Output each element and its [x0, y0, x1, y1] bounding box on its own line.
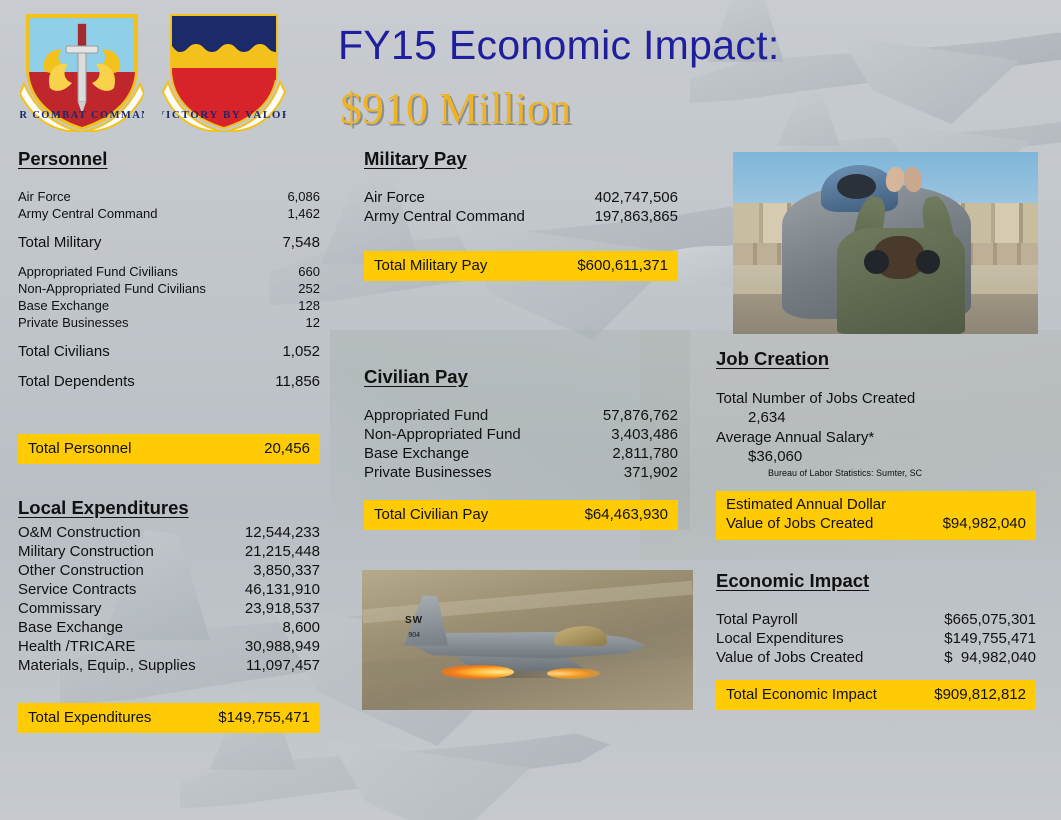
- personnel-row-non-appropriated-fund-civilians: Non-Appropriated Fund Civilians 252: [18, 282, 320, 295]
- economic-impact-total-bar: Total Economic Impact $909,812,812: [716, 680, 1036, 710]
- personnel-total-civilians: Total Civilians 1,052: [18, 344, 320, 359]
- job-value-bar-amount: $94,982,040: [943, 515, 1026, 534]
- local-expenditures-heading: Local Expenditures: [18, 497, 320, 519]
- personnel-row-appropriated-fund-civilians: Appropriated Fund Civilians 660: [18, 265, 320, 278]
- local-expenditures-section: Local Expenditures O&M Construction 12,5…: [18, 497, 320, 673]
- personnel-total-bar: Total Personnel 20,456: [18, 434, 320, 464]
- crew-chief-marshalling-f16-photo: [733, 152, 1038, 334]
- vbv-emblem-motto: VICTORY BY VALOR: [162, 109, 286, 121]
- expenditure-row-health-tricare: Health /TRICARE 30,988,949: [18, 639, 320, 654]
- expenditure-row-military-construction: Military Construction 21,215,448: [18, 544, 320, 559]
- page-title: FY15 Economic Impact:: [338, 22, 780, 69]
- f16-tail-number: 904: [408, 632, 420, 639]
- military-pay-total-bar: Total Military Pay $600,611,371: [364, 251, 678, 281]
- personnel-total-dependents: Total Dependents 11,856: [18, 374, 320, 389]
- f16-firing-missile-photo: SW 904: [362, 570, 693, 710]
- expenditure-row-om-construction: O&M Construction 12,544,233: [18, 525, 320, 540]
- economic-impact-row-value-of-jobs-created: Value of Jobs Created $ 94,982,040: [716, 650, 1036, 665]
- civilian-pay-row-base-exchange: Base Exchange 2,811,780: [364, 446, 678, 461]
- job-creation-heading: Job Creation: [716, 348, 1036, 370]
- expenditure-row-materials-equip-supplies: Materials, Equip., Supplies 11,097,457: [18, 658, 320, 673]
- personnel-heading: Personnel: [18, 148, 320, 170]
- personnel-row-air-force: Air Force 6,086: [18, 190, 320, 203]
- economic-impact-section: Economic Impact Total Payroll $665,075,3…: [716, 570, 1036, 665]
- expenditure-row-base-exchange: Base Exchange 8,600: [18, 620, 320, 635]
- personnel-row-army-central-command: Army Central Command 1,462: [18, 207, 320, 220]
- jobs-created-value: 2,634: [716, 409, 1036, 426]
- jobs-created-label: Total Number of Jobs Created: [716, 390, 1036, 407]
- acc-emblem-motto: AIR COMBAT COMMAND: [20, 110, 144, 121]
- expenditure-row-other-construction: Other Construction 3,850,337: [18, 563, 320, 578]
- job-value-bar-line1: Estimated Annual Dollar: [726, 496, 1026, 515]
- civilian-pay-heading: Civilian Pay: [364, 366, 678, 388]
- air-combat-command-emblem: AIR COMBAT COMMAND: [20, 6, 144, 132]
- job-value-total-bar: Estimated Annual Dollar Value of Jobs Cr…: [716, 491, 1036, 540]
- average-annual-salary-label: Average Annual Salary*: [716, 429, 1036, 446]
- military-pay-section: Military Pay Air Force 402,747,506 Army …: [364, 148, 678, 224]
- job-value-bar-line2: Value of Jobs Created: [726, 515, 873, 534]
- civilian-pay-row-non-appropriated-fund: Non-Appropriated Fund 3,403,486: [364, 427, 678, 442]
- military-pay-heading: Military Pay: [364, 148, 678, 170]
- personnel-row-base-exchange: Base Exchange 128: [18, 299, 320, 312]
- economic-impact-row-local-expenditures: Local Expenditures $149,755,471: [716, 631, 1036, 646]
- personnel-section: Personnel Air Force 6,086 Army Central C…: [18, 148, 320, 389]
- civilian-pay-total-bar: Total Civilian Pay $64,463,930: [364, 500, 678, 530]
- civilian-pay-row-appropriated-fund: Appropriated Fund 57,876,762: [364, 408, 678, 423]
- expenditure-row-commissary: Commissary 23,918,537: [18, 601, 320, 616]
- economic-impact-row-total-payroll: Total Payroll $665,075,301: [716, 612, 1036, 627]
- economic-impact-heading: Economic Impact: [716, 570, 1036, 592]
- page-subtitle: $910 Million: [340, 83, 571, 134]
- local-expenditures-total-bar: Total Expenditures $149,755,471: [18, 703, 320, 733]
- f16-tail-code: SW: [405, 615, 423, 626]
- military-pay-row-army-central-command: Army Central Command 197,863,865: [364, 209, 678, 224]
- victory-by-valor-emblem: VICTORY BY VALOR: [162, 6, 286, 132]
- average-annual-salary-value: $36,060: [716, 448, 1036, 465]
- infographic-canvas: AIR COMBAT COMMAND VICTORY BY VALOR FY15…: [0, 0, 1061, 820]
- personnel-total-military: Total Military 7,548: [18, 235, 320, 250]
- job-creation-source-note: Bureau of Labor Statistics: Sumter, SC: [716, 468, 1036, 478]
- civilian-pay-row-private-businesses: Private Businesses 371,902: [364, 465, 678, 480]
- civilian-pay-section: Civilian Pay Appropriated Fund 57,876,76…: [364, 366, 678, 480]
- personnel-row-private-businesses: Private Businesses 12: [18, 316, 320, 329]
- expenditure-row-service-contracts: Service Contracts 46,131,910: [18, 582, 320, 597]
- military-pay-row-air-force: Air Force 402,747,506: [364, 190, 678, 205]
- job-creation-section: Job Creation Total Number of Jobs Create…: [716, 348, 1036, 478]
